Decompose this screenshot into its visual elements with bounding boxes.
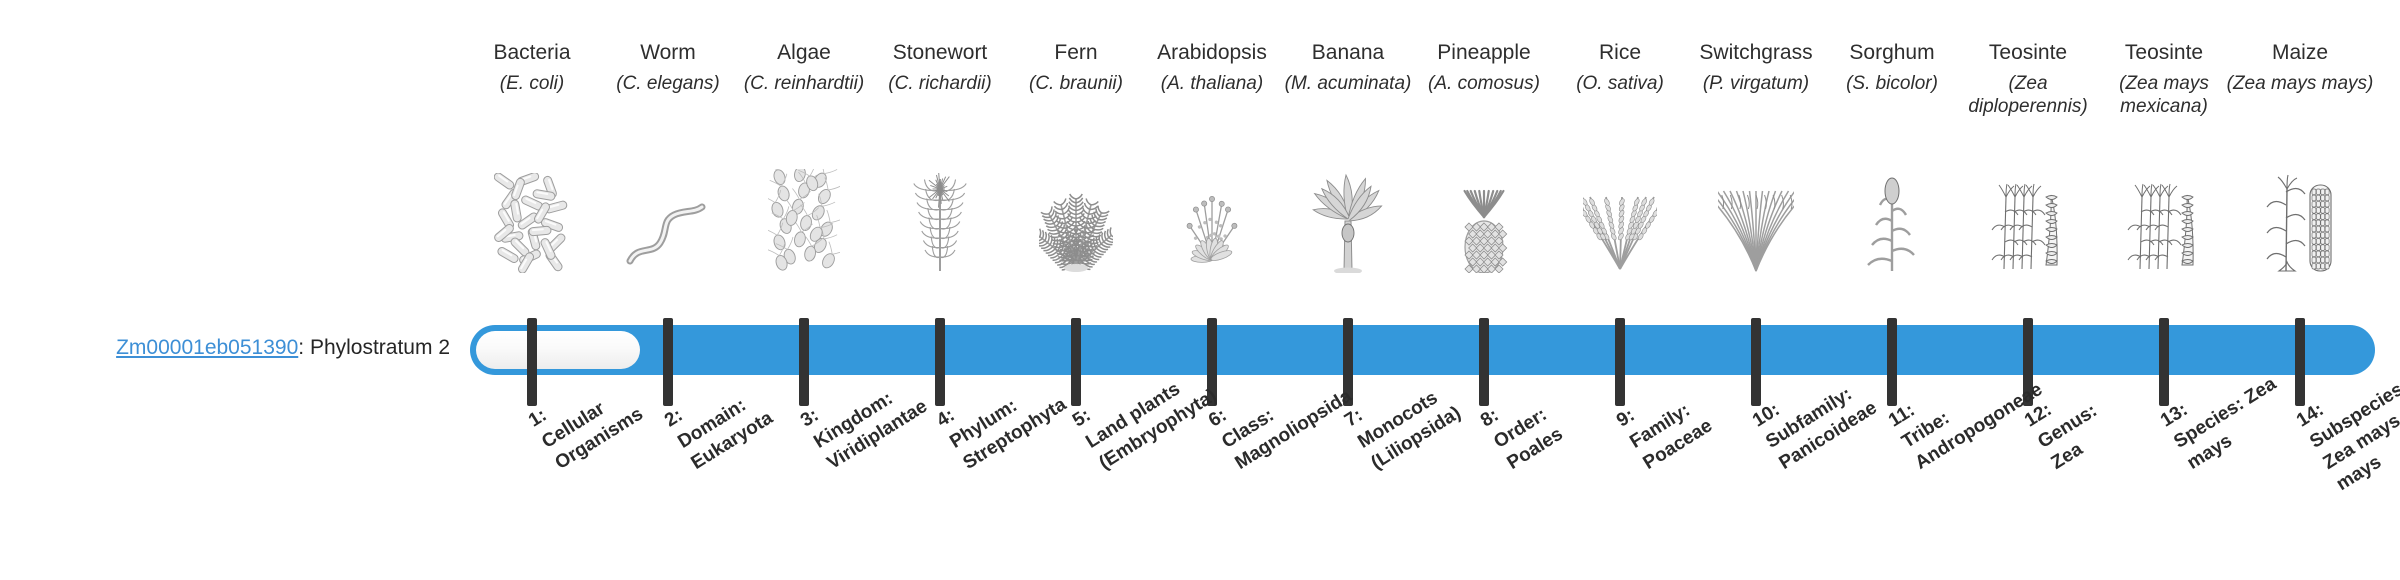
species-column: Stonewort(C. richardii) xyxy=(865,0,1015,580)
species-column: Algae(C. reinhardtii) xyxy=(729,0,879,580)
species-scientific-name: (M. acuminata) xyxy=(1273,72,1423,95)
stonewort-plant-icon xyxy=(865,168,1015,273)
gene-caption-separator: : xyxy=(298,336,310,359)
species-common-name: Arabidopsis xyxy=(1137,40,1287,66)
species-scientific-name: (Zea mays mays) xyxy=(2225,72,2375,95)
species-column: Sorghum(S. bicolor) xyxy=(1817,0,1967,580)
species-scientific-name: (C. braunii) xyxy=(1001,72,1151,95)
species-common-name: Sorghum xyxy=(1817,40,1967,66)
species-column: Worm(C. elegans) xyxy=(593,0,743,580)
species-common-name: Rice xyxy=(1545,40,1695,66)
species-common-name: Bacteria xyxy=(457,40,607,66)
species-column: Teosinte(Zea diploperennis) xyxy=(1953,0,2103,580)
species-common-name: Teosinte xyxy=(1953,40,2103,66)
species-scientific-name: (A. thaliana) xyxy=(1137,72,1287,95)
gene-id-link[interactable]: Zm00001eb051390 xyxy=(116,336,298,359)
species-scientific-name: (A. comosus) xyxy=(1409,72,1559,95)
switchgrass-plant-icon xyxy=(1681,168,1831,273)
green-algae-cells-icon xyxy=(729,168,879,273)
sorghum-plant-icon xyxy=(1817,168,1967,273)
bacteria-rods-icon xyxy=(457,168,607,273)
species-common-name: Algae xyxy=(729,40,879,66)
species-scientific-name: (C. richardii) xyxy=(865,72,1015,95)
species-column: Rice(O. sativa) xyxy=(1545,0,1695,580)
species-column: Pineapple(A. comosus) xyxy=(1409,0,1559,580)
species-column: Maize(Zea mays mays) xyxy=(2225,0,2375,580)
species-column: Arabidopsis(A. thaliana) xyxy=(1137,0,1287,580)
species-common-name: Banana xyxy=(1273,40,1423,66)
species-scientific-name: (C. elegans) xyxy=(593,72,743,95)
nematode-worm-icon xyxy=(593,168,743,273)
phylostratum-label: Phylostratum 2 xyxy=(310,336,450,359)
species-scientific-name: (Zea diploperennis) xyxy=(1953,72,2103,118)
species-scientific-name: (E. coli) xyxy=(457,72,607,95)
gene-caption: Zm00001eb051390: Phylostratum 2 xyxy=(0,336,450,360)
species-scientific-name: (C. reinhardtii) xyxy=(729,72,879,95)
arabidopsis-plant-icon xyxy=(1137,168,1287,273)
phylostratigraphy-timeline: Zm00001eb051390: Phylostratum 2 Bacteria… xyxy=(0,0,2400,580)
species-scientific-name: (P. virgatum) xyxy=(1681,72,1831,95)
species-common-name: Teosinte xyxy=(2089,40,2239,66)
teosinte-plant-and-ear-icon xyxy=(2089,168,2239,273)
pineapple-fruit-icon xyxy=(1409,168,1559,273)
species-column: Teosinte(Zea mays mexicana) xyxy=(2089,0,2239,580)
banana-tree-icon xyxy=(1273,168,1423,273)
species-column: Fern(C. braunii) xyxy=(1001,0,1151,580)
species-common-name: Worm xyxy=(593,40,743,66)
species-scientific-name: (O. sativa) xyxy=(1545,72,1695,95)
species-common-name: Stonewort xyxy=(865,40,1015,66)
rice-plant-icon xyxy=(1545,168,1695,273)
species-column: Bacteria(E. coli) xyxy=(457,0,607,580)
species-scientific-name: (S. bicolor) xyxy=(1817,72,1967,95)
species-common-name: Maize xyxy=(2225,40,2375,66)
species-column: Banana(M. acuminata) xyxy=(1273,0,1423,580)
maize-plant-and-ear-icon xyxy=(2225,168,2375,273)
species-common-name: Fern xyxy=(1001,40,1151,66)
species-common-name: Switchgrass xyxy=(1681,40,1831,66)
teosinte-plant-and-ear-icon xyxy=(1953,168,2103,273)
species-column: Switchgrass(P. virgatum) xyxy=(1681,0,1831,580)
species-common-name: Pineapple xyxy=(1409,40,1559,66)
fern-frond-icon xyxy=(1001,168,1151,273)
species-scientific-name: (Zea mays mexicana) xyxy=(2089,72,2239,118)
